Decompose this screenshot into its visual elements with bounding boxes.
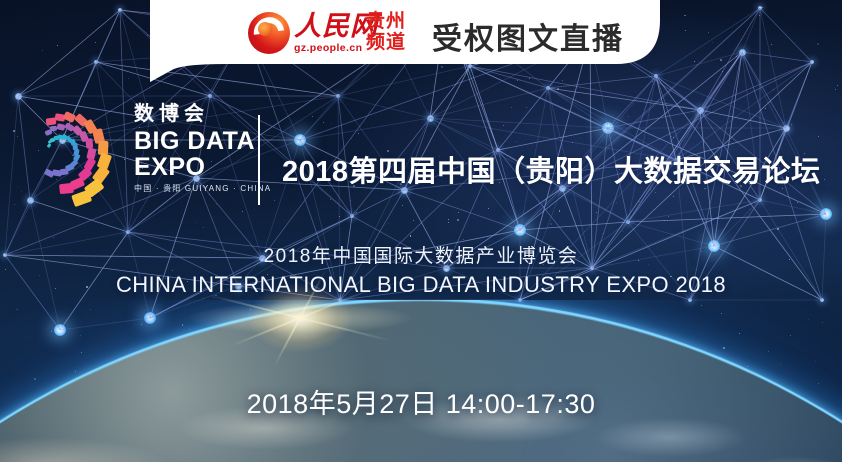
channel-label: 贵州 频道: [366, 11, 406, 53]
subtitle-en: CHINA INTERNATIONAL BIG DATA INDUSTRY EX…: [0, 272, 842, 298]
people-daily-logo[interactable]: 人民网 gz.people.cn: [248, 12, 378, 54]
banner-content: 人民网 gz.people.cn 贵州 频道 受权图文直播: [0, 0, 640, 72]
subtitle-cn: 2018年中国国际大数据产业博览会: [0, 241, 842, 268]
channel-line1: 贵州: [366, 11, 406, 32]
event-poster: 人民网 gz.people.cn 贵州 频道 受权图文直播 数博会 BIG DA…: [0, 0, 842, 462]
expo-name-cn: 数博会: [134, 103, 271, 125]
channel-line2: 频道: [366, 32, 406, 53]
expo-location: 中国 · 贵阳 GUIYANG · CHINA: [134, 183, 271, 194]
vertical-divider: [258, 115, 260, 205]
earth-sphere: [0, 300, 842, 462]
expo-logo: 数博会 BIG DATA EXPO 中国 · 贵阳 GUIYANG · CHIN…: [18, 100, 271, 196]
authorization-label: 受权图文直播: [432, 14, 624, 58]
earth-horizon: [0, 300, 842, 462]
expo-name-en-line2: EXPO: [134, 154, 271, 180]
people-daily-swirl-icon: [248, 12, 290, 54]
expo-name-en-line1: BIG DATA: [134, 128, 271, 154]
event-datetime: 2018年5月27日 14:00-17:30: [0, 382, 842, 421]
big-data-expo-spiral-icon: [18, 100, 122, 196]
page-title: 2018第四届中国（贵阳）大数据交易论坛: [282, 148, 821, 190]
earth-landmasses: [0, 300, 842, 462]
